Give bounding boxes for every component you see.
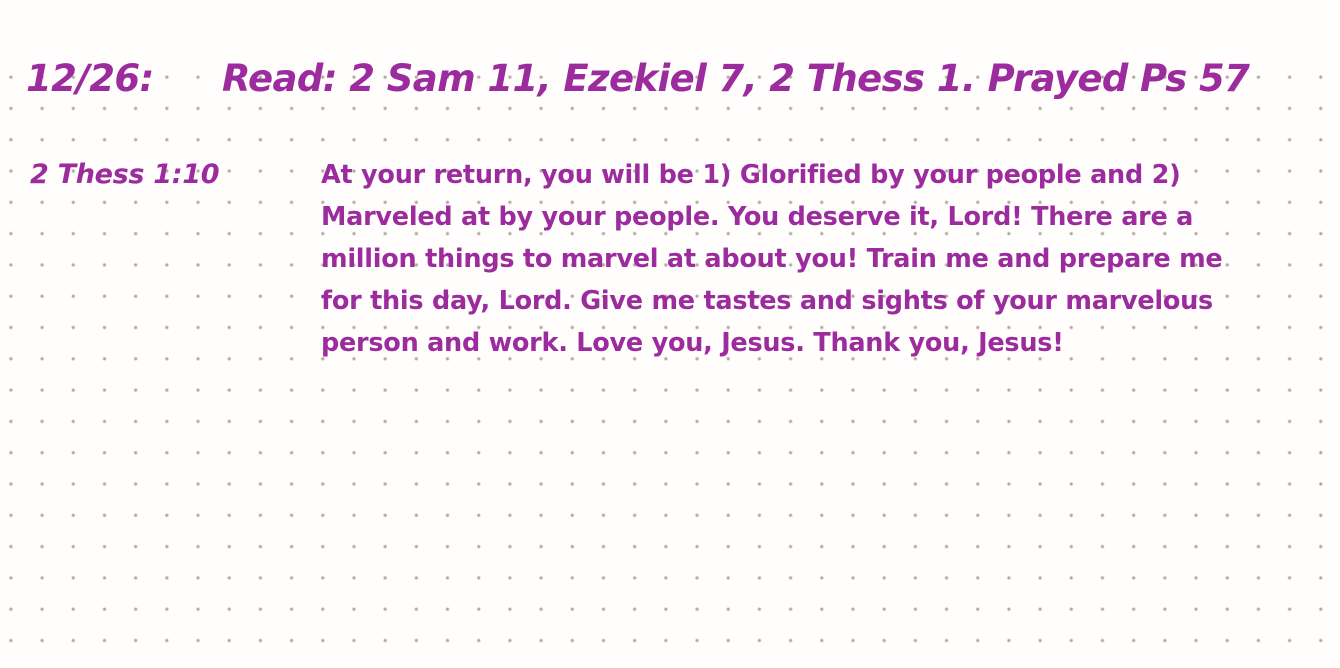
entry-header-line: 12/26:Read: 2 Sam 11, Ezekiel 7, 2 Thess… [26,55,1249,103]
note-line: Marveled at by your people. You deserve … [321,196,1286,238]
note-line: million things to marvel at about you! T… [321,238,1286,280]
entry-reading-log: Read: 2 Sam 11, Ezekiel 7, 2 Thess 1. Pr… [222,57,1249,100]
note-line: At your return, you will be 1) Glorified… [321,154,1286,196]
entry-date: 12/26: [26,55,222,103]
verse-reference: 2 Thess 1:10 [30,156,219,194]
note-line: for this day, Lord. Give me tastes and s… [321,280,1286,322]
note-line: person and work. Love you, Jesus. Thank … [321,322,1286,364]
journal-page: 12/26:Read: 2 Sam 11, Ezekiel 7, 2 Thess… [0,0,1340,668]
journal-note-body: At your return, you will be 1) Glorified… [321,154,1286,364]
journal-content: 12/26:Read: 2 Sam 11, Ezekiel 7, 2 Thess… [0,0,1340,668]
